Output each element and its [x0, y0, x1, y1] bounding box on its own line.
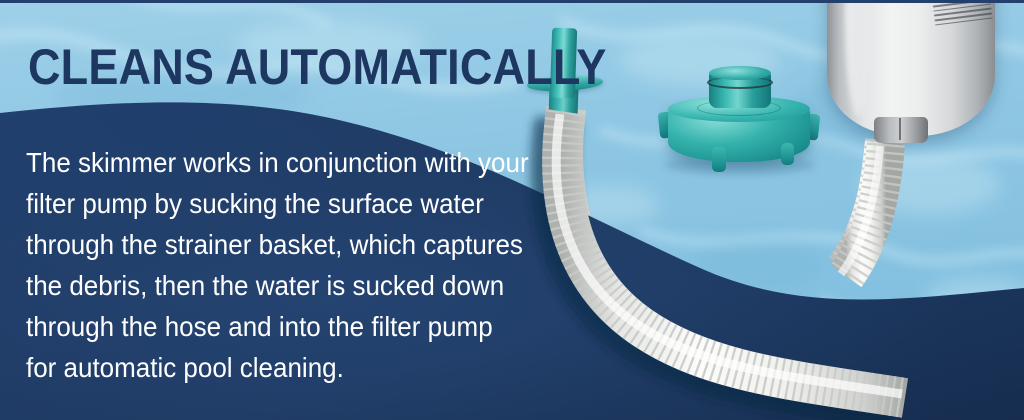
body-line: The skimmer works in conjunction with yo…: [26, 142, 555, 183]
page-title: CLEANS AUTOMATICALLY: [28, 40, 607, 94]
text-content: CLEANS AUTOMATICALLY The skimmer works i…: [0, 0, 1024, 420]
body-line: through the hose and into the filter pum…: [26, 306, 555, 347]
body-description: The skimmer works in conjunction with yo…: [26, 142, 555, 388]
top-edge-border: [0, 0, 1024, 3]
cleans-automatically-banner: CLEANS AUTOMATICALLY The skimmer works i…: [0, 0, 1024, 420]
body-line: filter pump by sucking the surface water: [26, 183, 555, 224]
body-line: through the strainer basket, which captu…: [26, 224, 555, 265]
body-line: the debris, then the water is sucked dow…: [26, 265, 555, 306]
body-line: for automatic pool cleaning.: [26, 347, 555, 388]
